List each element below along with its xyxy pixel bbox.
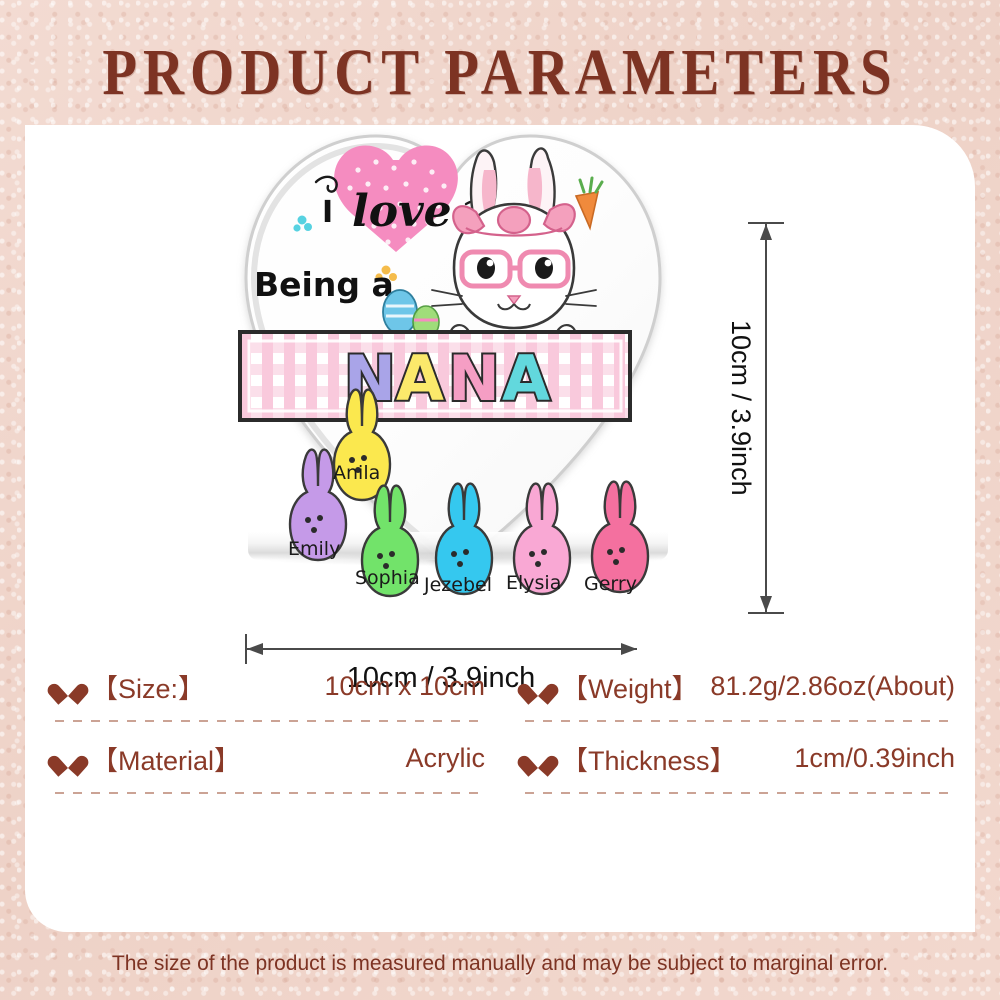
spec-value-weight: 81.2g/2.86oz(About) — [710, 650, 955, 722]
peep-label-emily: Emily — [288, 538, 340, 560]
peep-label-jezebel: Jezebel — [424, 574, 492, 596]
peep-label-sophia: Sophia — [355, 567, 420, 589]
spec-row-size: 【Size:】 10cm x 10cm — [55, 650, 485, 722]
vertical-dimension-label: 10cm / 3.9inch — [725, 320, 756, 520]
svg-text:A: A — [502, 342, 550, 415]
svg-text:N: N — [344, 342, 396, 415]
name-banner: N A N A — [240, 332, 630, 420]
spec-divider — [525, 792, 955, 794]
plaque-artwork: I love Being a — [218, 100, 688, 600]
arrow-up-icon — [758, 224, 774, 242]
art-text-i: I — [322, 195, 333, 230]
spec-row-material: 【Material】 Acrylic — [55, 722, 485, 794]
arrow-down-icon — [758, 594, 774, 612]
spec-key-weight: 【Weight】 — [561, 667, 699, 706]
svg-text:N: N — [448, 342, 500, 415]
art-text-love: love — [352, 186, 452, 237]
carrot-icon — [576, 178, 602, 228]
peep-label-anila: Anila — [333, 462, 380, 484]
spec-value-thickness: 1cm/0.39inch — [794, 722, 955, 794]
spec-row-weight: 【Weight】 81.2g/2.86oz(About) — [525, 650, 955, 722]
acrylic-heart-plaque: I love Being a — [218, 100, 688, 600]
svg-text:A: A — [396, 342, 444, 415]
heart-bullet-icon — [525, 746, 551, 770]
art-text-being-a: Being a — [254, 265, 394, 304]
peep-label-gerry: Gerry — [584, 573, 637, 595]
spec-divider — [55, 792, 485, 794]
spec-key-thickness: 【Thickness】 — [561, 739, 737, 778]
measurement-disclaimer: The size of the product is measured manu… — [0, 952, 1000, 976]
heart-bullet-icon — [55, 746, 81, 770]
peep-label-elysia: Elysia — [506, 572, 561, 594]
heart-bullet-icon — [525, 674, 551, 698]
heart-bullet-icon — [55, 674, 81, 698]
spec-key-material: 【Material】 — [91, 739, 241, 778]
spec-value-material: Acrylic — [406, 722, 486, 794]
spec-key-size: 【Size:】 — [91, 667, 205, 706]
spec-column-left: 【Size:】 10cm x 10cm 【Material】 Acrylic — [55, 650, 485, 794]
spec-column-right: 【Weight】 81.2g/2.86oz(About) 【Thickness】… — [525, 650, 955, 794]
product-photo: I love Being a — [200, 90, 720, 650]
spec-value-size: 10cm x 10cm — [324, 650, 485, 722]
spec-row-thickness: 【Thickness】 1cm/0.39inch — [525, 722, 955, 794]
